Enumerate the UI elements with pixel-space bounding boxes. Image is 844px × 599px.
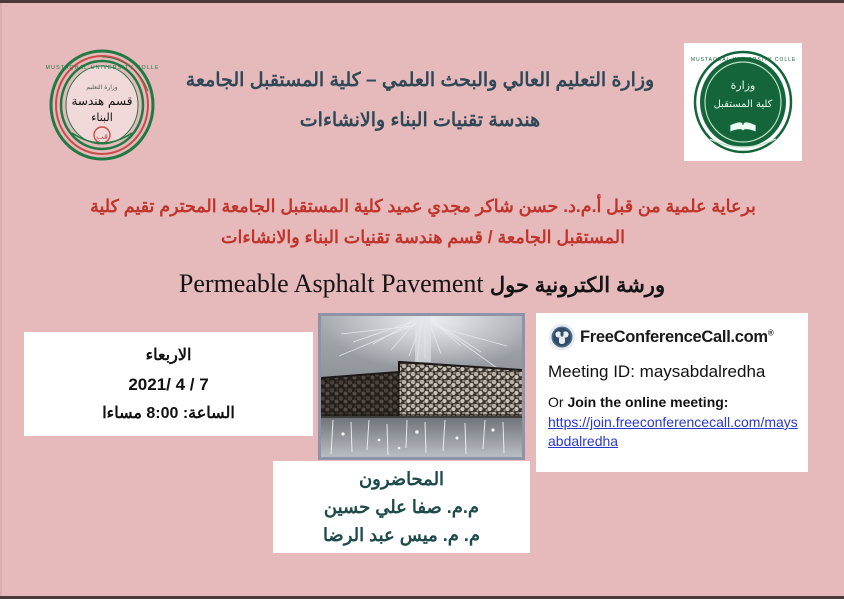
page-title: ورشة الكترونية حول Permeable Asphalt Pav… <box>0 267 844 303</box>
svg-text:AL MUSTAQBAL UNIVERSITY COLLEG: AL MUSTAQBAL UNIVERSITY COLLEGE <box>690 57 796 63</box>
meeting-id-row: Meeting ID: maysabdalredha <box>548 362 798 382</box>
registered-mark: ® <box>768 328 774 337</box>
freeconferencecall-brand-row: FreeConferenceCall.com® <box>548 322 798 352</box>
freeconferencecall-info-box: FreeConferenceCall.com® Meeting ID: mays… <box>536 313 808 472</box>
brand-text: FreeConferenceCall.com <box>580 328 768 346</box>
department-seal-logo: AL MUSTAQBAL UNIVERSITY COLLEGE وزارة ال… <box>46 49 158 161</box>
event-time: الساعة: 8:00 مساءا <box>24 399 313 428</box>
date-time-box: الاربعاء 2021/ 4 / 7 الساعة: 8:00 مساءا <box>24 332 313 436</box>
speakers-heading: المحاضرون <box>273 465 530 493</box>
svg-text:AL MUSTAQBAL UNIVERSITY COLLEG: AL MUSTAQBAL UNIVERSITY COLLEGE <box>46 65 158 71</box>
join-instruction: Or Join the online meeting: <box>548 394 798 410</box>
svg-text:وزارة: وزارة <box>731 79 756 92</box>
svg-text:قسم هندسة: قسم هندسة <box>72 94 133 108</box>
header-title-block: وزارة التعليم العالي والبحث العلمي – كلي… <box>170 61 670 141</box>
sponsor-paragraph: برعاية علمية من قبل أ.م.د. حسن شاكر مجدي… <box>68 191 778 253</box>
meeting-join-link[interactable]: https://join.freeconferencecall.com/mays… <box>548 413 798 451</box>
svg-text:البناء: البناء <box>91 111 113 124</box>
permeable-asphalt-photo <box>318 313 525 460</box>
telephone-icon <box>548 323 576 351</box>
join-url-line-1: https://join.freeconferencecall.com/ma <box>548 414 784 430</box>
meeting-id-value: maysabdalredha <box>640 362 766 381</box>
sponsor-line-2: المستقبل الجامعة / قسم هندسة تقنيات البن… <box>68 222 778 253</box>
svg-text:قب: قب <box>96 132 108 141</box>
speaker-name-1: م.م. صفا علي حسين <box>273 493 530 521</box>
header-line-2: هندسة تقنيات البناء والانشاءات <box>170 101 670 141</box>
header-line-1: وزارة التعليم العالي والبحث العلمي – كلي… <box>170 61 670 101</box>
workshop-announcement-poster: AL MUSTAQBAL UNIVERSITY COLLEGE وزارة ال… <box>0 0 844 599</box>
meeting-id-label: Meeting ID: <box>548 362 635 381</box>
event-date: 2021/ 4 / 7 <box>24 370 313 399</box>
university-seal-logo: AL MUSTAQBAL UNIVERSITY COLLEGE وزارة كل… <box>684 43 802 161</box>
svg-text:كلية المستقبل: كلية المستقبل <box>714 99 773 110</box>
sponsor-line-1: برعاية علمية من قبل أ.م.د. حسن شاكر مجدي… <box>68 191 778 222</box>
join-bold-text: Join the online meeting: <box>567 394 728 410</box>
poster-header: AL MUSTAQBAL UNIVERSITY COLLEGE وزارة ال… <box>0 39 844 169</box>
event-day: الاربعاء <box>24 341 313 370</box>
speaker-name-2: م. م. ميس عبد الرضا <box>273 521 530 549</box>
svg-text:وزارة التعليم: وزارة التعليم <box>86 84 118 91</box>
title-arabic: ورشة الكترونية حول <box>490 274 665 297</box>
freeconferencecall-wordmark: FreeConferenceCall.com® <box>580 328 773 347</box>
title-english: Permeable Asphalt Pavement <box>179 269 484 298</box>
speakers-box: المحاضرون م.م. صفا علي حسين م. م. ميس عب… <box>273 461 530 553</box>
join-prefix: Or <box>548 394 567 410</box>
